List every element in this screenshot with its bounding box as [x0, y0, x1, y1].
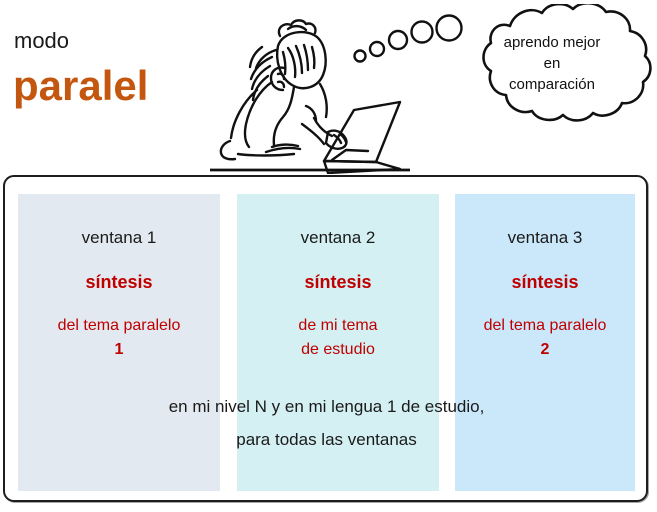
- thought-bubble-text: aprendo mejor en comparación: [466, 32, 638, 95]
- column-3-subject: del tema paralelo 2: [455, 314, 635, 362]
- page-title-main: paralel: [13, 62, 148, 110]
- column-ventana-3: ventana 3 síntesis del tema paralelo 2: [455, 194, 635, 491]
- column-1-subject: del tema paralelo 1: [18, 314, 220, 362]
- column-2-subject: de mi tema de estudio: [237, 314, 439, 362]
- windows-panel: ventana 1 síntesis del tema paralelo 1 v…: [3, 175, 648, 502]
- page-title-small: modo: [14, 28, 69, 54]
- thought-bubble-line-3: comparación: [466, 74, 638, 95]
- header-area: modo paralel: [0, 0, 657, 175]
- column-1-number: 1: [18, 338, 220, 362]
- thought-bubble-line-1: aprendo mejor: [466, 32, 638, 53]
- column-3-window-label: ventana 3: [455, 228, 635, 248]
- column-3-subject-line-1: del tema paralelo: [455, 314, 635, 338]
- column-3-number: 2: [455, 338, 635, 362]
- column-1-synthesis-label: síntesis: [18, 272, 220, 293]
- column-ventana-2: ventana 2 síntesis de mi tema de estudio: [237, 194, 439, 491]
- column-1-subject-line-1: del tema paralelo: [18, 314, 220, 338]
- column-2-subject-line-2: de estudio: [237, 338, 439, 362]
- column-2-subject-line-1: de mi tema: [237, 314, 439, 338]
- column-2-synthesis-label: síntesis: [237, 272, 439, 293]
- column-3-synthesis-label: síntesis: [455, 272, 635, 293]
- thought-bubble-line-2: en: [466, 53, 638, 74]
- column-1-window-label: ventana 1: [18, 228, 220, 248]
- column-ventana-1: ventana 1 síntesis del tema paralelo 1: [18, 194, 220, 491]
- column-2-window-label: ventana 2: [237, 228, 439, 248]
